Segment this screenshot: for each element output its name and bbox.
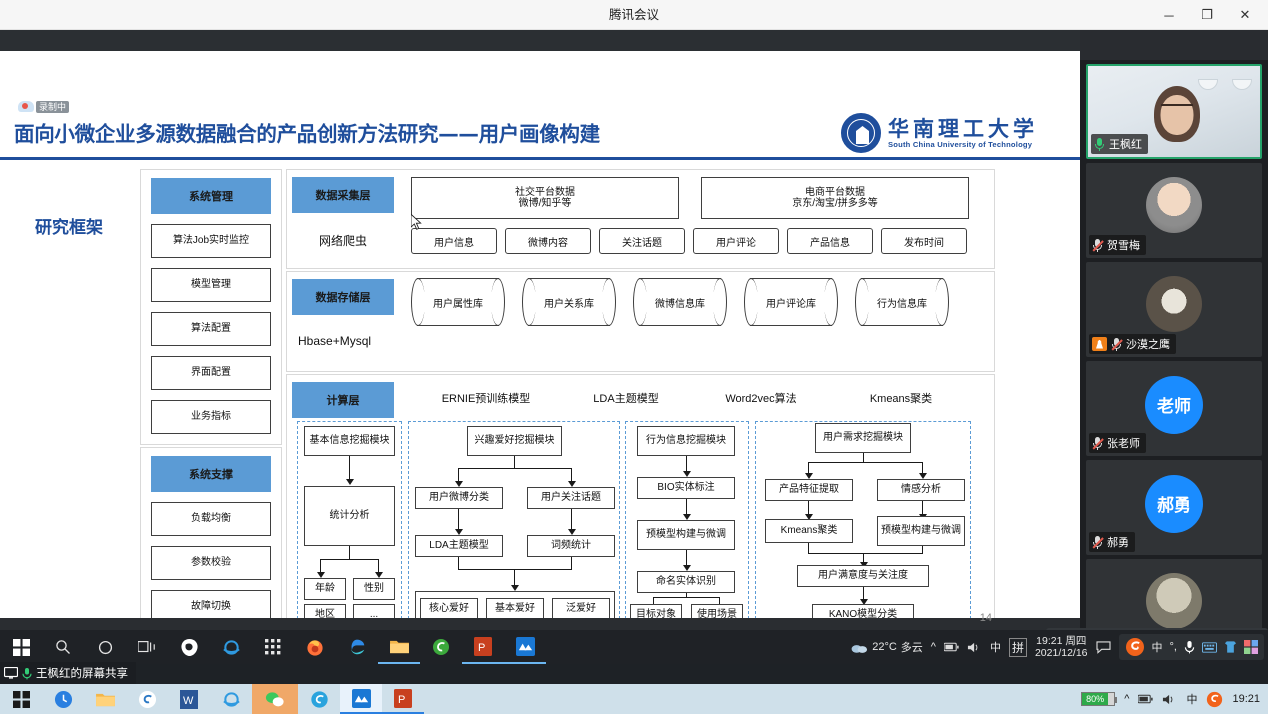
- module-interest-title[interactable]: 兴趣爱好挖掘模块: [467, 426, 562, 456]
- basic-output-gender[interactable]: 性别: [353, 578, 395, 600]
- participant-avatar-photo: [1146, 276, 1202, 332]
- file-explorer-icon[interactable]: [378, 630, 420, 664]
- left-item-param-check[interactable]: 参数校验: [151, 546, 271, 580]
- crawl-field-item[interactable]: 产品信息: [787, 228, 873, 254]
- presentation-slide: 录制中 面向小微企业多源数据融合的产品创新方法研究——用户画像构建 华南理工大学…: [0, 51, 1080, 618]
- search-icon[interactable]: [42, 630, 84, 664]
- crawl-field-label: 微博内容: [505, 228, 591, 254]
- participant-name: 郝勇: [1107, 534, 1129, 550]
- data-collection-subtitle: 网络爬虫: [292, 232, 394, 249]
- participant-avatar-initials: 老师: [1145, 376, 1203, 434]
- 360-browser-icon[interactable]: [420, 630, 462, 664]
- secondary-taskbar[interactable]: W P 80% ^ 中 19:21: [0, 684, 1268, 714]
- app-title: 腾讯会议: [0, 0, 1268, 30]
- sogou-keyboard-icon: [1202, 642, 1217, 653]
- database-label: 微博信息库: [633, 278, 727, 326]
- interest-wordfreq[interactable]: 词频统计: [527, 535, 615, 557]
- screen-share-indicator[interactable]: 王枫红的屏幕共享: [0, 662, 136, 684]
- behavior-target-object[interactable]: 目标对象: [630, 604, 682, 618]
- connector: [922, 546, 923, 553]
- crawl-field-label: 产品信息: [787, 228, 873, 254]
- module-demand-title[interactable]: 用户需求挖掘模块: [815, 423, 911, 453]
- algo-word2vec: Word2vec算法: [691, 390, 831, 406]
- connector: [808, 543, 809, 553]
- microphone-muted-icon: [1092, 536, 1103, 549]
- algorithm-caption-row: ERNIE预训练模型 LDA主题模型 Word2vec算法 Kmeans聚类: [411, 390, 971, 406]
- weather-temperature: 22°C: [872, 641, 897, 653]
- clock-app-icon[interactable]: [42, 684, 84, 714]
- start-button-icon-2[interactable]: [0, 684, 42, 714]
- screen-share-label: 王枫红的屏幕共享: [36, 665, 128, 681]
- taskbar-clock[interactable]: 19:21 周四 2021/12/16: [1035, 635, 1088, 659]
- basic-output-region[interactable]: 地区: [304, 604, 346, 618]
- crawl-field-item[interactable]: 发布时间: [881, 228, 967, 254]
- microsoft-edge-icon[interactable]: [336, 630, 378, 664]
- microphone-muted-icon: [1092, 437, 1103, 450]
- battery-indicator[interactable]: 80%: [1081, 692, 1115, 706]
- left-column: 系统管理 算法Job实时监控 模型管理 算法配置 界面配置 业务指标 系统支撑 …: [140, 169, 282, 618]
- crawl-field-list: 用户信息 微博内容 关注话题 用户评论 产品信息 发布时间: [411, 228, 971, 256]
- participant-badge: 王枫红: [1091, 134, 1148, 154]
- wechat-icon[interactable]: [252, 684, 298, 714]
- crawl-field-item[interactable]: 用户信息: [411, 228, 497, 254]
- participant-name: 沙漠之鹰: [1126, 336, 1170, 352]
- behavior-pretrain-finetune[interactable]: 预模型构建与微调: [637, 520, 735, 550]
- data-storage-layer: 数据存储层 Hbase+Mysql 用户属性库 用户关系库: [286, 271, 995, 372]
- ime-mode-indicator[interactable]: 拼: [1009, 638, 1027, 657]
- algo-lda: LDA主题模型: [561, 390, 691, 406]
- volume-icon[interactable]: [967, 641, 982, 654]
- social-source-line2: 微博/知乎等: [519, 198, 572, 210]
- sogou-input-icon-2[interactable]: [126, 684, 168, 714]
- connector: [571, 557, 572, 569]
- cortana-icon[interactable]: [84, 630, 126, 664]
- arrow-down: [808, 501, 809, 515]
- sogou-language[interactable]: 中: [1152, 639, 1163, 655]
- arrow-down: [808, 462, 809, 474]
- powerpoint-icon-2[interactable]: P: [382, 684, 424, 714]
- database-label: 用户关系库: [522, 278, 616, 326]
- basic-output-more[interactable]: ...: [353, 604, 395, 618]
- left-item-load-balance[interactable]: 负载均衡: [151, 502, 271, 536]
- ime-language-indicator[interactable]: 中: [990, 639, 1001, 655]
- app-grid-icon[interactable]: [252, 630, 294, 664]
- participant-badge: 沙漠之鹰: [1089, 334, 1176, 354]
- arrow-down: [349, 456, 350, 480]
- microsoft-word-icon[interactable]: W: [168, 684, 210, 714]
- internet-explorer-icon-2[interactable]: [210, 684, 252, 714]
- secondary-clock[interactable]: 19:21: [1232, 693, 1260, 705]
- crawl-field-label: 关注话题: [599, 228, 685, 254]
- database-label: 行为信息库: [855, 278, 949, 326]
- interest-topics[interactable]: 用户关注话题: [527, 487, 615, 509]
- arrow-down: [863, 553, 864, 563]
- clock-time: 19:21 周四: [1035, 635, 1088, 647]
- interest-output-group: 核心爱好 基本爱好 泛爱好: [415, 591, 615, 618]
- tray-expand-icon[interactable]: ^: [931, 641, 936, 653]
- windows-taskbar[interactable]: P 22°C 多云 ^ 中 拼 19:21 周四 2021/12/16 中: [0, 630, 1268, 664]
- compute-layer: 计算层 ERNIE预训练模型 LDA主题模型 Word2vec算法 Kmeans…: [286, 374, 995, 618]
- microphone-muted-icon: [1092, 239, 1103, 252]
- behavior-ner[interactable]: 命名实体识别: [637, 571, 735, 593]
- connector: [349, 546, 350, 559]
- left-item-failover[interactable]: 故障切换: [151, 590, 271, 618]
- start-button-icon[interactable]: [0, 630, 42, 664]
- battery-tray-icon[interactable]: [944, 642, 959, 653]
- data-collection-tag: 数据采集层: [292, 177, 394, 213]
- university-seal-icon: [841, 113, 881, 153]
- slide-title: 面向小微企业多源数据融合的产品创新方法研究——用户画像构建: [14, 117, 600, 147]
- minimize-button[interactable]: －: [1150, 0, 1188, 30]
- tray-expand-icon-2[interactable]: ^: [1124, 693, 1129, 705]
- participant-badge: 郝勇: [1089, 532, 1135, 552]
- database-cylinder[interactable]: 用户关系库: [522, 278, 616, 326]
- cloud-icon: [851, 641, 868, 654]
- connector: [458, 468, 571, 469]
- monitor-icon: [4, 667, 18, 679]
- recording-label: 录制中: [36, 101, 69, 113]
- battery-tray-icon-2[interactable]: [1138, 694, 1153, 705]
- system-tray[interactable]: 22°C 多云 ^ 中 拼 19:21 周四 2021/12/16 中 °,: [851, 630, 1268, 664]
- file-explorer-icon-2[interactable]: [84, 684, 126, 714]
- left-item-business-metrics[interactable]: 业务指标: [151, 400, 271, 434]
- maximize-button[interactable]: ❐: [1188, 0, 1226, 30]
- microphone-icon: [22, 667, 32, 680]
- internet-explorer-icon[interactable]: [210, 630, 252, 664]
- participant-avatar-photo: [1146, 177, 1202, 233]
- firefox-icon[interactable]: [294, 630, 336, 664]
- arrow-down: [458, 468, 459, 482]
- arrow-down: [686, 499, 687, 515]
- database-label: 用户评论库: [744, 278, 838, 326]
- arrow-down: [378, 559, 379, 573]
- arrow-down: [922, 462, 923, 474]
- participant-tile-haoyong[interactable]: 郝勇 郝勇: [1086, 460, 1262, 555]
- close-button[interactable]: ✕: [1226, 0, 1264, 30]
- arrow-down: [571, 468, 572, 482]
- connector: [686, 593, 687, 598]
- cloud-record-icon: [18, 101, 34, 112]
- ecommerce-platform-source[interactable]: 电商平台数据 京东/淘宝/拼多多等: [701, 177, 969, 219]
- powerpoint-icon[interactable]: P: [462, 630, 504, 664]
- arrow-down: [514, 569, 515, 586]
- participant-tile-zhanglaoshi[interactable]: 老师 张老师: [1086, 361, 1262, 456]
- interest-basic[interactable]: 基本爱好: [486, 598, 544, 619]
- weather-description: 多云: [901, 639, 923, 655]
- algo-ernie: ERNIE预训练模型: [411, 390, 561, 406]
- basic-output-age[interactable]: 年龄: [304, 578, 346, 600]
- crawl-field-label: 用户信息: [411, 228, 497, 254]
- compute-layer-tag: 计算层: [292, 382, 394, 418]
- demand-satisfaction[interactable]: 用户满意度与关注度: [797, 565, 929, 587]
- right-column: 数据采集层 网络爬虫 社交平台数据 微博/知乎等 电商平台数据 京东/淘宝/拼多…: [286, 169, 995, 618]
- behavior-usage-scene[interactable]: 使用场景: [691, 604, 743, 618]
- svg-text:W: W: [183, 695, 194, 707]
- university-name-cn: 华南理工大学: [888, 117, 1038, 140]
- action-center-icon[interactable]: [1096, 641, 1111, 654]
- shared-screen-area[interactable]: 录制中 面向小微企业多源数据融合的产品创新方法研究——用户画像构建 华南理工大学…: [0, 30, 1080, 630]
- database-cylinder[interactable]: 用户评论库: [744, 278, 838, 326]
- connector: [514, 456, 515, 468]
- participant-badge: 张老师: [1089, 433, 1146, 453]
- ecom-source-line2: 京东/淘宝/拼多多等: [792, 198, 878, 210]
- arrow-down: [922, 501, 923, 515]
- arrow-down: [571, 509, 572, 530]
- ime-language-indicator-2[interactable]: 中: [1186, 691, 1197, 707]
- system-management-panel: 系统管理 算法Job实时监控 模型管理 算法配置 界面配置 业务指标: [140, 169, 282, 445]
- university-logo: 华南理工大学 South China University of Technol…: [841, 113, 1038, 153]
- left-item-job-monitor[interactable]: 算法Job实时监控: [151, 224, 271, 258]
- crawl-field-item[interactable]: 用户评论: [693, 228, 779, 254]
- social-platform-source[interactable]: 社交平台数据 微博/知乎等: [411, 177, 679, 219]
- participant-tile-wangfenghong[interactable]: 王枫红: [1086, 64, 1262, 159]
- system-support-header: 系统支撑: [151, 456, 271, 492]
- left-item-model-management[interactable]: 模型管理: [151, 268, 271, 302]
- participant-name: 王枫红: [1109, 136, 1142, 152]
- ecom-source-line1: 电商平台数据: [805, 187, 865, 199]
- left-item-ui-config[interactable]: 界面配置: [151, 356, 271, 390]
- database-list: 用户属性库 用户关系库 微博信息库: [411, 278, 949, 326]
- connector: [863, 453, 864, 462]
- participant-name: 贺雪梅: [1107, 237, 1140, 253]
- interest-general[interactable]: 泛爱好: [552, 598, 610, 619]
- title-underline: [0, 157, 1080, 160]
- participant-badge: 贺雪梅: [1089, 235, 1146, 255]
- database-cylinder[interactable]: 行为信息库: [855, 278, 949, 326]
- microphone-muted-icon: [1111, 338, 1122, 351]
- behavior-bio-tagging[interactable]: BIO实体标注: [637, 477, 735, 499]
- microphone-on-icon: [1094, 138, 1105, 151]
- database-cylinder[interactable]: 微博信息库: [633, 278, 727, 326]
- participant-name: 张老师: [1107, 435, 1140, 451]
- system-support-panel: 系统支撑 负载均衡 参数校验 故障切换: [140, 447, 282, 618]
- database-label: 用户属性库: [411, 278, 505, 326]
- host-icon: [1092, 337, 1107, 351]
- arrow-down: [320, 559, 321, 573]
- demand-pretrain-finetune[interactable]: 预模型构建与微调: [877, 516, 965, 546]
- database-cylinder[interactable]: 用户属性库: [411, 278, 505, 326]
- participant-list[interactable]: 王枫红 贺雪梅 沙漠之鹰 老师: [1080, 60, 1268, 660]
- university-name-en: South China University of Technology: [888, 140, 1038, 149]
- crawl-field-label: 用户评论: [693, 228, 779, 254]
- interest-lda[interactable]: LDA主题模型: [415, 535, 503, 557]
- connector: [808, 553, 923, 554]
- title-bar: 腾讯会议 － ❐ ✕: [0, 0, 1268, 30]
- crawl-field-label: 发布时间: [881, 228, 967, 254]
- sogou-logo-icon: [1125, 637, 1145, 657]
- participant-avatar-photo: [1146, 573, 1202, 629]
- interest-core[interactable]: 核心爱好: [420, 598, 478, 619]
- meeting-body: 录制中 面向小微企业多源数据融合的产品创新方法研究——用户画像构建 华南理工大学…: [0, 30, 1268, 630]
- data-storage-subtitle: Hbase+Mysql: [292, 334, 394, 348]
- system-management-header: 系统管理: [151, 178, 271, 214]
- arrow-down: [686, 550, 687, 566]
- demand-kmeans[interactable]: Kmeans聚类: [765, 519, 853, 543]
- secondary-system-tray[interactable]: 80% ^ 中 19:21: [1081, 684, 1268, 714]
- demand-kano[interactable]: KANO模型分类: [812, 604, 914, 618]
- crawl-field-item[interactable]: 微博内容: [505, 228, 591, 254]
- connector: [808, 462, 922, 463]
- sogou-skin-icon: [1224, 640, 1237, 654]
- weather-widget[interactable]: 22°C 多云: [851, 639, 923, 655]
- meeting-window: 腾讯会议 － ❐ ✕ 录制中 面向小微企业多源数据融合的产品创新方法研究——用户…: [0, 0, 1268, 714]
- svg-text:P: P: [398, 694, 405, 706]
- sogou-voice-icon: [1184, 640, 1195, 654]
- data-collection-layer: 数据采集层 网络爬虫 社交平台数据 微博/知乎等 电商平台数据 京东/淘宝/拼多…: [286, 169, 995, 269]
- volume-icon-2[interactable]: [1162, 693, 1177, 706]
- 360-browser-icon-2[interactable]: [298, 684, 340, 714]
- sogou-input-icon[interactable]: [168, 630, 210, 664]
- recording-badge: 录制中: [18, 99, 69, 114]
- sogou-logo-icon-2[interactable]: [1206, 691, 1223, 708]
- slide-page-number: 14: [980, 612, 992, 624]
- connector: [320, 559, 379, 560]
- left-item-algorithm-config[interactable]: 算法配置: [151, 312, 271, 346]
- arrow-down: [458, 509, 459, 530]
- arrow-down: [686, 456, 687, 472]
- sogou-toolbox-icon: [1244, 640, 1258, 654]
- clock-date: 2021/12/16: [1035, 647, 1088, 659]
- share-top-strip: [0, 30, 1080, 51]
- framework-label: 研究框架: [35, 213, 103, 238]
- mouse-cursor: [411, 214, 422, 231]
- crawl-field-item[interactable]: 关注话题: [599, 228, 685, 254]
- sogou-punctuation-icon[interactable]: °,: [1170, 641, 1177, 653]
- tencent-meeting-icon-2[interactable]: [340, 684, 382, 714]
- window-controls: － ❐ ✕: [1150, 0, 1264, 30]
- demand-sentiment[interactable]: 情感分析: [877, 479, 965, 501]
- module-basic-info-title[interactable]: 基本信息挖掘模块: [304, 426, 395, 456]
- connector: [458, 557, 459, 569]
- participant-tile-shamozhiying[interactable]: 沙漠之鹰: [1086, 262, 1262, 357]
- module-behavior-title[interactable]: 行为信息挖掘模块: [637, 426, 735, 456]
- demand-feature-extract[interactable]: 产品特征提取: [765, 479, 853, 501]
- participant-tile-hexuemei[interactable]: 贺雪梅: [1086, 163, 1262, 258]
- battery-percent: 80%: [1082, 693, 1108, 705]
- algo-kmeans: Kmeans聚类: [831, 390, 971, 406]
- svg-text:P: P: [478, 642, 485, 654]
- tencent-meeting-icon[interactable]: [504, 630, 546, 664]
- interest-weibo-classify[interactable]: 用户微博分类: [415, 487, 503, 509]
- arrow-down: [863, 587, 864, 600]
- data-storage-tag: 数据存储层: [292, 279, 394, 315]
- sogou-ime-bar[interactable]: 中 °,: [1119, 634, 1264, 660]
- participant-avatar-initials: 郝勇: [1145, 475, 1203, 533]
- task-view-icon[interactable]: [126, 630, 168, 664]
- social-source-line1: 社交平台数据: [515, 187, 575, 199]
- module-basic-info-step[interactable]: 统计分析: [304, 486, 395, 546]
